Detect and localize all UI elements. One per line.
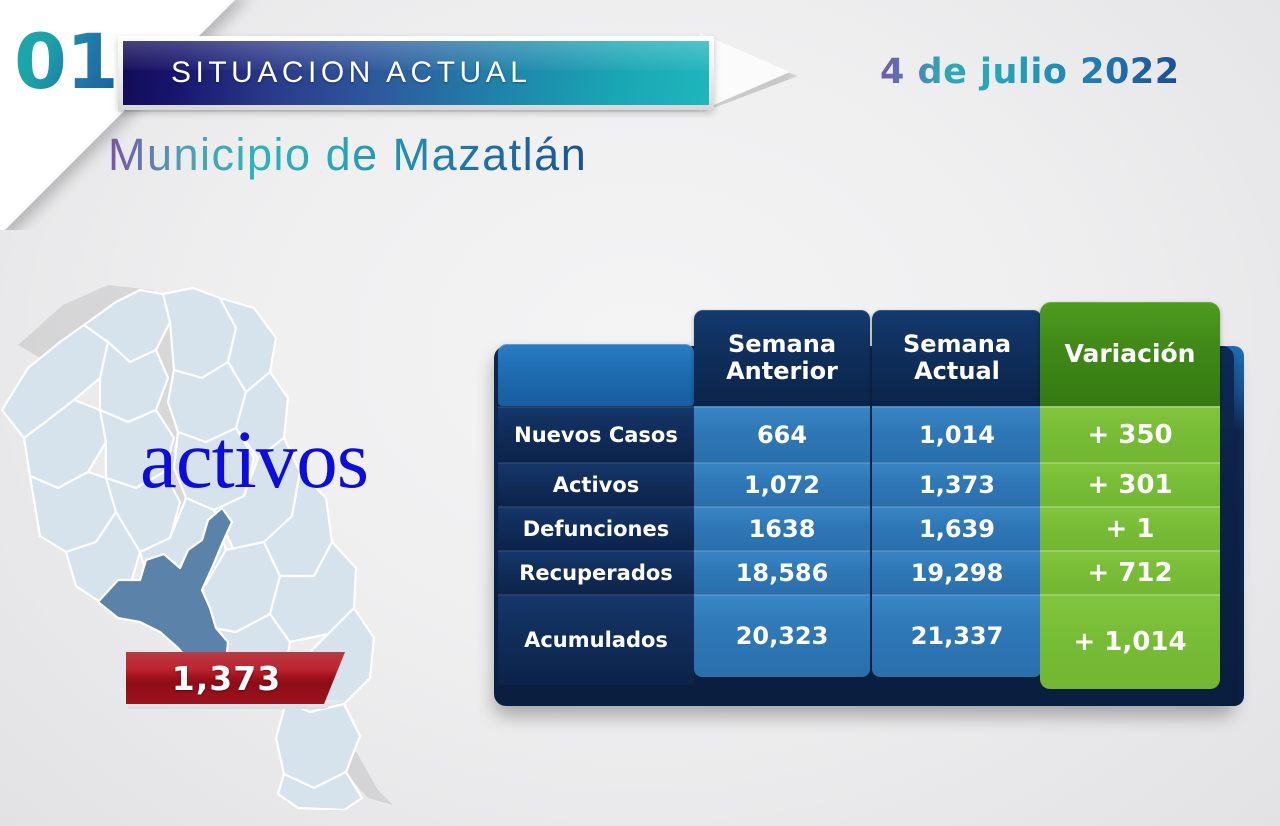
- column-header-previous-week: Semana Anterior: [694, 310, 870, 406]
- table-cell-previous: 20,323: [694, 594, 870, 677]
- table-cell-variation: + 712: [1040, 550, 1220, 595]
- banner-title: SITUACION ACTUAL: [171, 41, 709, 105]
- table-row-label: Acumulados: [498, 594, 694, 685]
- column-header-variation: Variación: [1040, 302, 1220, 406]
- table-cell-previous: 18,586: [694, 550, 870, 595]
- page-subtitle: Municipio de Mazatlán: [108, 129, 587, 181]
- sinaloa-map: [0, 250, 458, 810]
- table-row-label: Defunciones: [498, 506, 694, 551]
- banner-inner: SITUACION ACTUAL: [123, 41, 709, 105]
- section-banner: SITUACION ACTUAL: [118, 36, 714, 110]
- table-row-label: Recuperados: [498, 550, 694, 595]
- table-cell-variation: + 301: [1040, 462, 1220, 507]
- table-cell-current: 21,337: [872, 594, 1042, 677]
- table-corner-header: [498, 344, 694, 406]
- table-cell-previous: 1,072: [694, 462, 870, 507]
- table-cell-variation: + 1,014: [1040, 594, 1220, 689]
- column-header-variation-label: Variación: [1065, 340, 1196, 368]
- active-cases-value: 1,373: [172, 659, 293, 698]
- column-header-current-week-label: Semana Actual: [872, 331, 1042, 385]
- stats-table: Semana Anterior Semana Actual Variación …: [488, 296, 1258, 726]
- table-cell-variation: + 1: [1040, 506, 1220, 551]
- section-number: 01: [14, 24, 118, 100]
- column-header-current-week: Semana Actual: [872, 310, 1042, 406]
- table-cell-previous: 664: [694, 406, 870, 463]
- table-cell-current: 1,639: [872, 506, 1042, 551]
- table-cell-variation: + 350: [1040, 406, 1220, 463]
- column-header-previous-week-label: Semana Anterior: [694, 331, 870, 385]
- table-row-label: Activos: [498, 462, 694, 507]
- table-cell-current: 1,373: [872, 462, 1042, 507]
- table-row-label: Nuevos Casos: [498, 406, 694, 463]
- table-cell-current: 1,014: [872, 406, 1042, 463]
- table-cell-current: 19,298: [872, 550, 1042, 595]
- report-date: 4 de julio 2022: [880, 52, 1180, 92]
- table-cell-previous: 1638: [694, 506, 870, 551]
- map-caption: activos: [140, 418, 368, 501]
- active-cases-badge: 1,373: [120, 652, 345, 704]
